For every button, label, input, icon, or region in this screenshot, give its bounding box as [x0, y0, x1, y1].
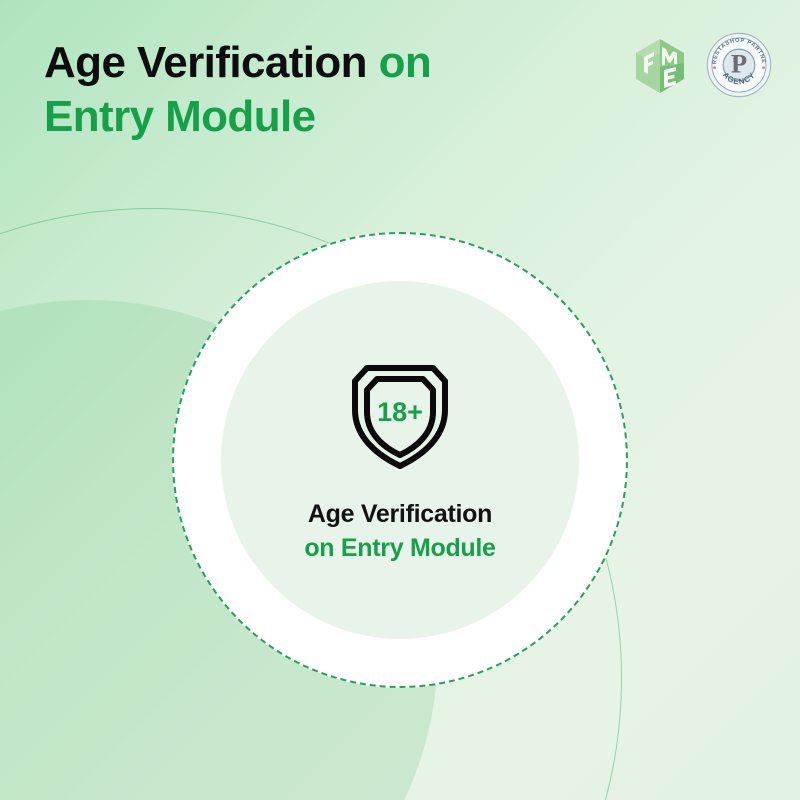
emblem-caption-line2: on Entry Module — [304, 532, 495, 566]
shield-age-label: 18+ — [377, 397, 423, 427]
promo-banner: Age Verification on Entry Module — [0, 0, 800, 800]
page-title-part2: on — [379, 38, 432, 87]
logo-group: P $ PRESTASHOP PARTNER AGENCY — [628, 32, 772, 103]
svg-text:$: $ — [733, 55, 737, 64]
fme-modules-logo[interactable] — [628, 33, 692, 102]
feature-emblem-inner: 18+ Age Verification on Entry Module — [221, 281, 579, 639]
page-title-line2: Entry Module — [44, 92, 315, 141]
emblem-caption: Age Verification on Entry Module — [304, 498, 495, 566]
page-title-part1: Age Verification — [44, 38, 379, 87]
shield-18plus-icon: 18+ — [345, 354, 455, 472]
prestashop-partner-agency-badge[interactable]: P $ PRESTASHOP PARTNER AGENCY — [706, 32, 772, 103]
page-title: Age Verification on Entry Module — [44, 36, 431, 143]
feature-emblem: 18+ Age Verification on Entry Module — [172, 232, 628, 688]
emblem-caption-line1: Age Verification — [304, 498, 495, 532]
banner-header: Age Verification on Entry Module — [44, 36, 772, 143]
